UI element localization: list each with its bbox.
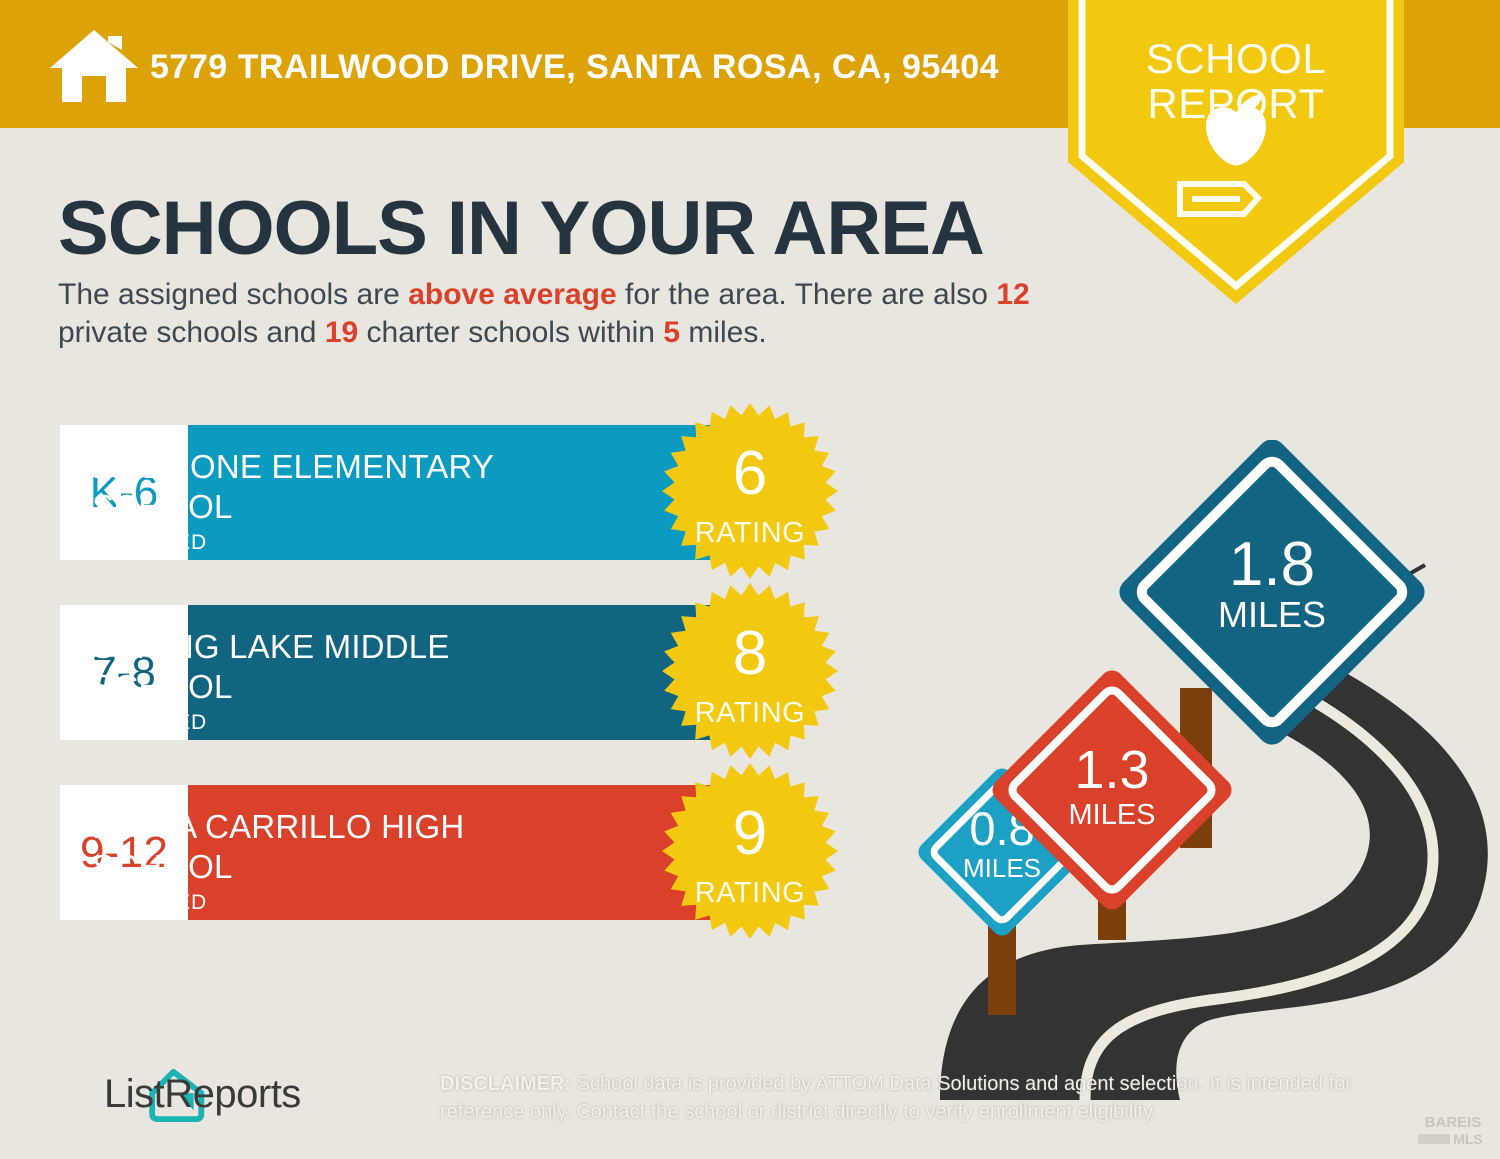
school-name: SPRING LAKE MIDDLE SCHOOL	[92, 627, 522, 707]
assigned-label: ASSIGNED	[92, 891, 207, 915]
road-with-distance-signs: 0.8 MILES 1.3 MILES 1.8 MILES	[880, 440, 1500, 1100]
rating-value: 8	[660, 623, 840, 685]
distance-unit-3: MILES	[1218, 594, 1326, 635]
bareis-mls-watermark: BAREIS MLS	[1416, 1110, 1490, 1150]
svg-text:BAREIS: BAREIS	[1425, 1114, 1482, 1131]
badge-title: SCHOOL REPORT	[1068, 36, 1404, 126]
home-icon	[48, 28, 140, 104]
subheadline: The assigned schools are above average f…	[58, 276, 1048, 352]
disclaimer-body: School data is provided by ATTOM Data So…	[440, 1073, 1352, 1123]
assigned-label: ASSIGNED	[92, 531, 207, 555]
subhead-highlight-charter-count: 19	[325, 316, 358, 349]
subhead-part-4: charter schools within	[358, 316, 663, 349]
distance-unit-2: MILES	[1068, 799, 1155, 831]
school-name: MADRONE ELEMENTARY SCHOOL	[92, 447, 522, 527]
badge-line-1: SCHOOL	[1068, 36, 1404, 81]
rating-label: RATING	[660, 517, 840, 550]
disclaimer-label: DISCLAIMER:	[440, 1073, 571, 1095]
listreports-wordmark: ListReports	[104, 1072, 301, 1117]
subhead-part-2: for the area. There are also	[617, 278, 997, 311]
distance-value-3: 1.8	[1229, 530, 1315, 599]
page-title: SCHOOLS IN YOUR AREA	[58, 185, 984, 272]
rating-value: 6	[660, 443, 840, 505]
rating-value: 9	[660, 803, 840, 865]
rating-label: RATING	[660, 697, 840, 730]
school-name: MARIA CARRILLO HIGH SCHOOL	[92, 807, 522, 887]
assigned-label: ASSIGNED	[92, 711, 207, 735]
subhead-part-3: private schools and	[58, 316, 325, 349]
rating-label: RATING	[660, 877, 840, 910]
subhead-highlight-rating: above average	[408, 278, 616, 311]
subhead-part-1: The assigned schools are	[58, 278, 408, 311]
svg-text:MLS: MLS	[1453, 1131, 1483, 1147]
badge-line-2: REPORT	[1068, 81, 1404, 126]
subhead-highlight-radius: 5	[663, 316, 680, 349]
disclaimer-text: DISCLAIMER: School data is provided by A…	[440, 1070, 1430, 1126]
distance-value-2: 1.3	[1074, 740, 1149, 800]
distance-unit-1: MILES	[963, 853, 1041, 883]
subhead-part-5: miles.	[680, 316, 767, 349]
property-address: 5779 TRAILWOOD DRIVE, SANTA ROSA, CA, 95…	[150, 48, 999, 87]
subhead-highlight-private-count: 12	[996, 278, 1029, 311]
